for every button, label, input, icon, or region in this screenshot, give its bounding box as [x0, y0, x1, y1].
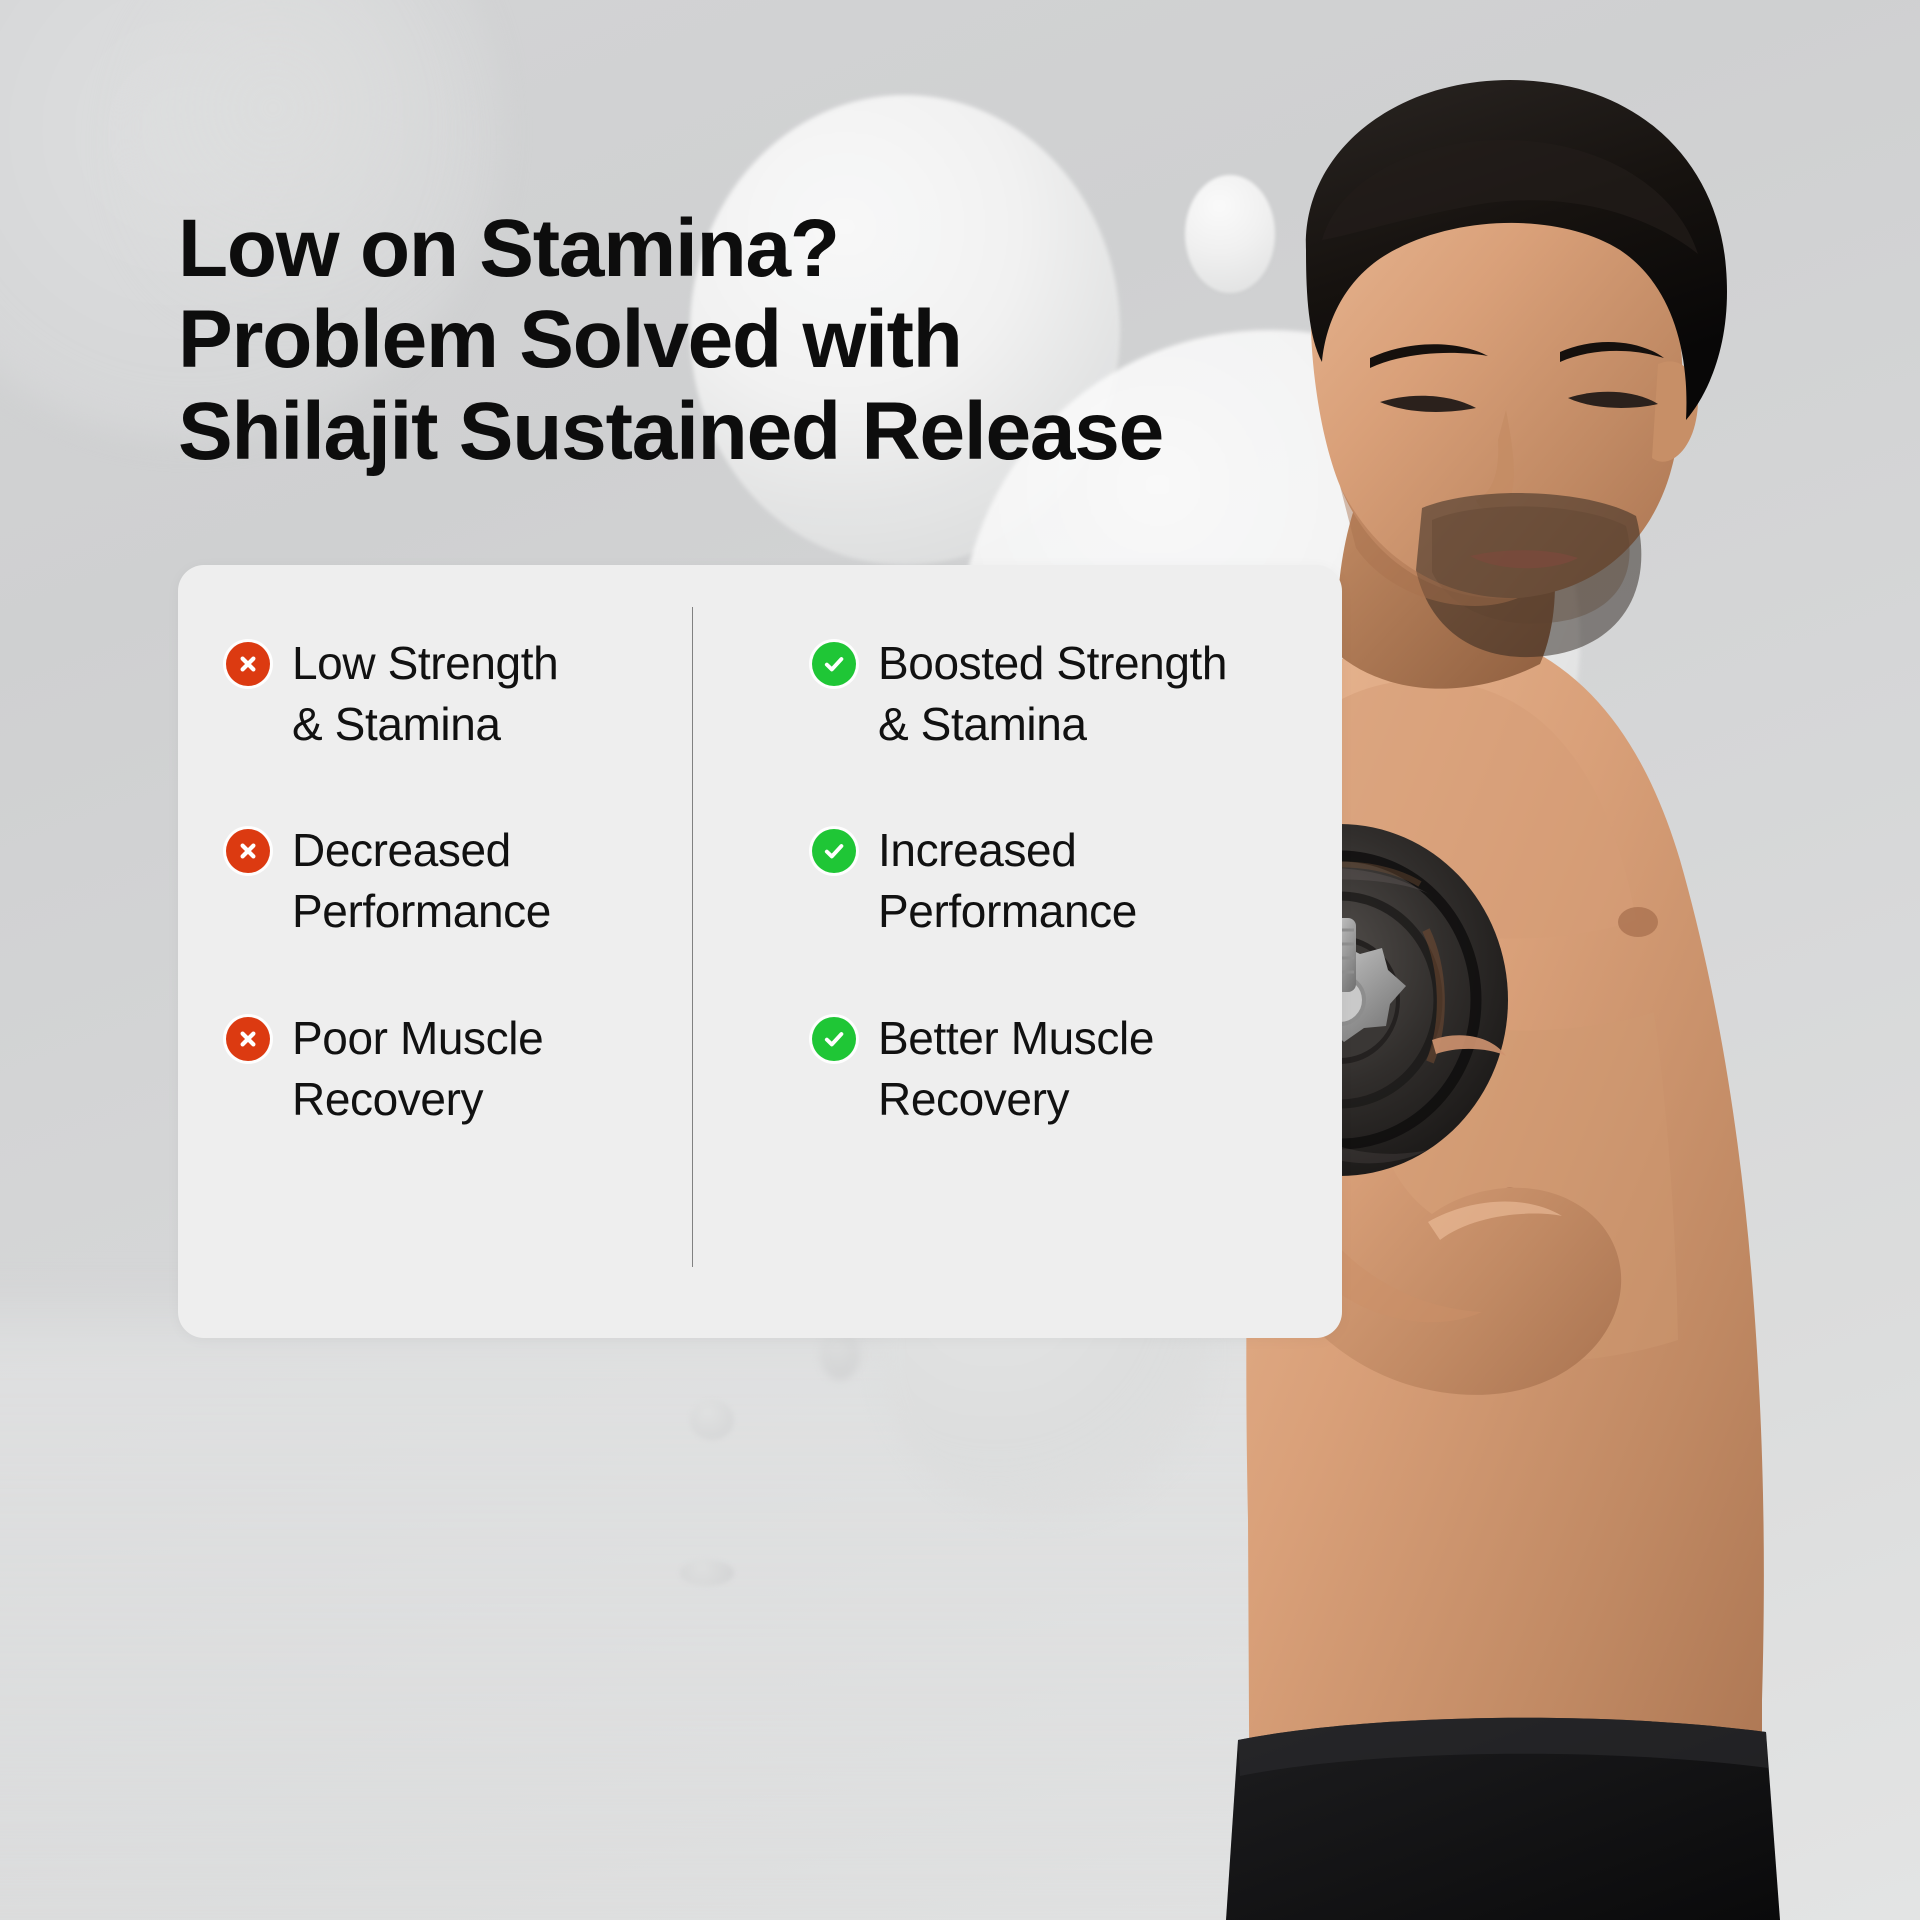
check-circle-icon [812, 1017, 856, 1061]
x-circle-icon [226, 1017, 270, 1061]
background-speck-lower-a [690, 1400, 734, 1440]
check-circle-icon [812, 829, 856, 873]
check-circle-icon [812, 642, 856, 686]
positive-column: Boosted Strength & Stamina Increased Per… [756, 565, 1342, 1338]
negative-column: Low Strength & Stamina Decreased Perform… [178, 565, 756, 1338]
list-item-label: Decreased Performance [292, 820, 551, 941]
comparison-card: Low Strength & Stamina Decreased Perform… [178, 565, 1342, 1338]
list-item: Decreased Performance [226, 820, 732, 941]
list-item-label: Boosted Strength & Stamina [878, 633, 1227, 754]
list-item: Better Muscle Recovery [812, 1008, 1318, 1129]
promo-banner: Low on Stamina? Problem Solved with Shil… [0, 0, 1920, 1920]
list-item-label: Increased Performance [878, 820, 1137, 941]
page-title: Low on Stamina? Problem Solved with Shil… [178, 203, 1228, 477]
list-item-label: Low Strength & Stamina [292, 633, 558, 754]
list-item-label: Poor Muscle Recovery [292, 1008, 543, 1129]
list-item-label: Better Muscle Recovery [878, 1008, 1154, 1129]
background-speck-lower-b [680, 1560, 734, 1586]
list-item: Increased Performance [812, 820, 1318, 941]
list-item: Boosted Strength & Stamina [812, 633, 1318, 754]
list-item: Poor Muscle Recovery [226, 1008, 732, 1129]
x-circle-icon [226, 642, 270, 686]
x-circle-icon [226, 829, 270, 873]
list-item: Low Strength & Stamina [226, 633, 732, 754]
